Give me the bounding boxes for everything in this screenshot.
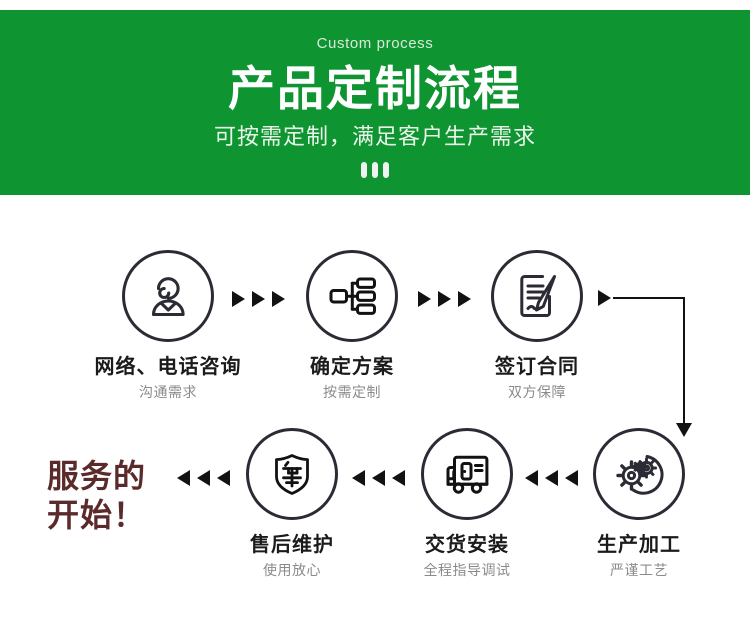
connector-vertical-line [683,297,685,425]
flow-step-plan[interactable]: 确定方案 按需定制 [267,250,437,400]
triangle-right-icon [232,291,245,307]
shield-aftersales-icon [246,428,338,520]
step-title: 交货安装 [382,534,552,556]
org-chart-icon [306,250,398,342]
gears-production-icon [593,428,685,520]
flow-step-production[interactable]: 生产加工 严谨工艺 [554,428,724,578]
triangle-left-icon [177,470,190,486]
step-subtitle: 按需定制 [267,385,437,400]
banner-dot-divider [0,162,750,178]
triangle-right-icon [418,291,431,307]
flow-step-consultation[interactable]: 网络、电话咨询 沟通需求 [83,250,253,400]
banner-subtitle: 可按需定制，满足客户生产需求 [0,126,750,148]
step-title: 确定方案 [267,356,437,378]
service-start-label: 服务的 开始！ [47,457,146,535]
process-flow-diagram: 网络、电话咨询 沟通需求 确定方案 按需定制 [0,195,750,634]
divider-dot [372,162,378,178]
page-header-banner: Custom process 产品定制流程 可按需定制，满足客户生产需求 [0,10,750,195]
step-title: 售后维护 [207,534,377,556]
step-title: 生产加工 [554,534,724,556]
triangle-left-icon [197,470,210,486]
page-title: 产品定制流程 [0,63,750,115]
divider-dot [361,162,367,178]
step-subtitle: 双方保障 [452,385,622,400]
flow-step-delivery[interactable]: 交货安装 全程指导调试 [382,428,552,578]
contract-signing-icon [491,250,583,342]
service-start-line-2: 开始！ [47,496,146,535]
step-subtitle: 全程指导调试 [382,563,552,578]
step-title: 网络、电话咨询 [83,356,253,378]
step-subtitle: 使用放心 [207,563,377,578]
triangle-right-icon [252,291,265,307]
triangle-right-icon [438,291,451,307]
delivery-truck-icon [421,428,513,520]
triangle-left-icon [217,470,230,486]
arrow-group-left-3 [177,470,230,486]
flow-step-aftersales[interactable]: 售后维护 使用放心 [207,428,377,578]
divider-dot [383,162,389,178]
triangle-left-icon [565,470,578,486]
flow-step-contract[interactable]: 签订合同 双方保障 [452,250,622,400]
service-start-line-1: 服务的 [47,457,146,496]
person-headset-icon [122,250,214,342]
banner-eyebrow: Custom process [0,36,750,51]
step-subtitle: 沟通需求 [83,385,253,400]
triangle-right-icon [598,290,611,306]
step-title: 签订合同 [452,356,622,378]
triangle-left-icon [392,470,405,486]
connector-horizontal-line [613,297,685,299]
step-subtitle: 严谨工艺 [554,563,724,578]
